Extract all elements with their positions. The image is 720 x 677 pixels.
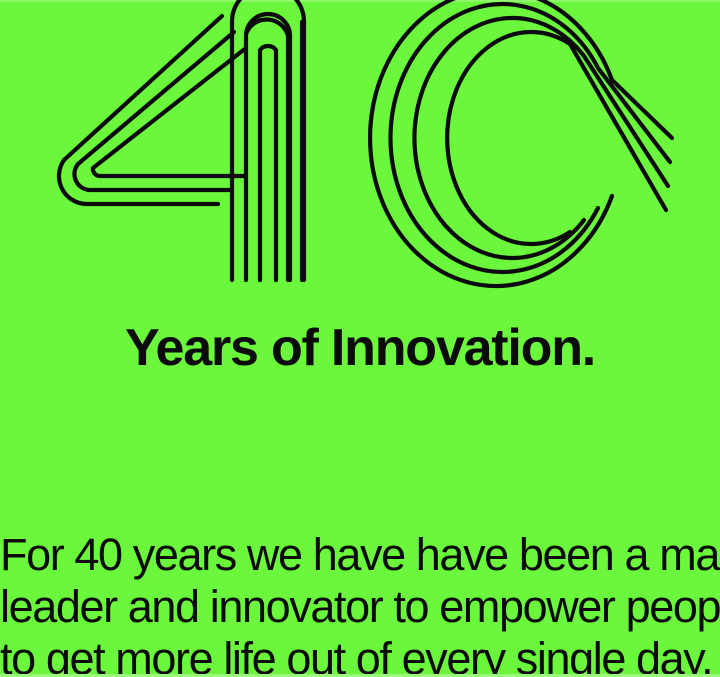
page-title: Years of Innovation. bbox=[0, 318, 720, 378]
forty-logo-svg bbox=[0, 0, 720, 300]
body-copy: For 40 years we have have been a market … bbox=[0, 529, 720, 677]
anniversary-poster: Years of Innovation. For 40 years we hav… bbox=[0, 0, 720, 677]
forty-logo bbox=[0, 0, 720, 300]
numeral-four-strokes bbox=[59, 0, 304, 280]
body-line: leader and innovator to empower people bbox=[0, 581, 720, 633]
body-line: For 40 years we have have been a market bbox=[0, 529, 720, 581]
body-line: to get more life out of every single day… bbox=[0, 633, 720, 677]
numeral-zero-strokes bbox=[370, 0, 672, 286]
